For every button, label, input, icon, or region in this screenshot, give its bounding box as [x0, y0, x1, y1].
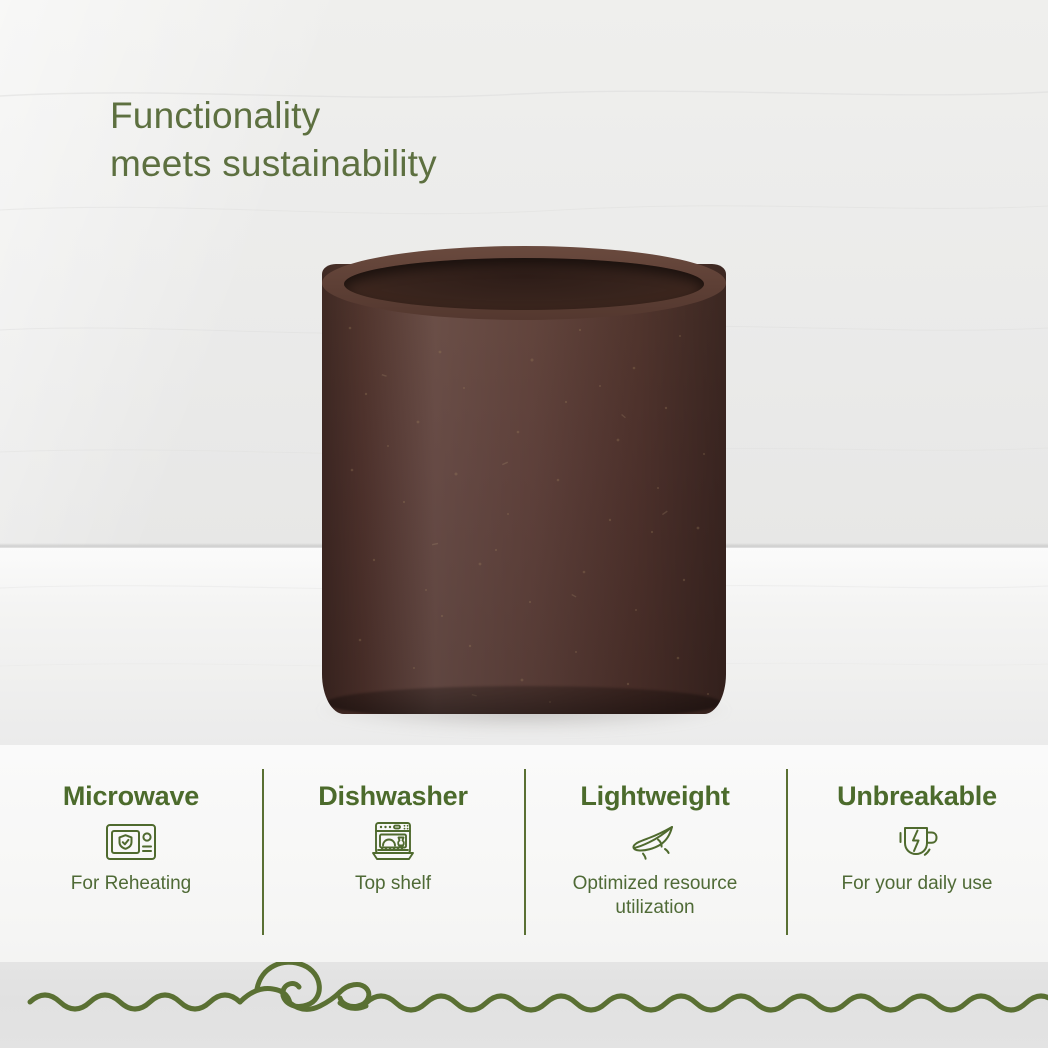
- feature-subtitle: For Reheating: [71, 872, 191, 896]
- mug-interior-cavity: [344, 258, 704, 310]
- dishwasher-icon: [368, 820, 418, 864]
- feature-title: Microwave: [63, 783, 199, 810]
- cracked-cup-icon: [893, 820, 941, 864]
- feature-subtitle: For your daily use: [841, 872, 992, 896]
- wave-line-decoration: [0, 962, 1048, 1048]
- mug-speckle-texture: [322, 264, 726, 714]
- feature-dishwasher: Dishwasher: [262, 745, 524, 962]
- feature-subtitle: Optimized resource utilization: [573, 872, 738, 920]
- microwave-icon: [105, 820, 157, 864]
- feature-lightweight: Lightweight Optimized resource utilizati…: [524, 745, 786, 962]
- mug-base-shading: [326, 686, 722, 714]
- wave-footer: [0, 962, 1048, 1048]
- feature-microwave: Microwave For Reheating: [0, 745, 262, 962]
- feature-unbreakable: Unbreakable For your daily use: [786, 745, 1048, 962]
- product-scene: Functionality meets sustainability: [0, 0, 1048, 745]
- feature-subtitle: Top shelf: [355, 872, 431, 896]
- headline: Functionality meets sustainability: [110, 92, 437, 188]
- product-feature-poster: Functionality meets sustainability Micro…: [0, 0, 1048, 1048]
- mug-body: [322, 264, 726, 714]
- feature-title: Unbreakable: [837, 783, 997, 810]
- feature-title: Lightweight: [580, 783, 729, 810]
- feature-title: Dishwasher: [318, 783, 468, 810]
- feather-icon: [627, 820, 683, 864]
- feature-list: Microwave For Reheating Dishwasher: [0, 745, 1048, 962]
- coffee-mug: [322, 246, 726, 714]
